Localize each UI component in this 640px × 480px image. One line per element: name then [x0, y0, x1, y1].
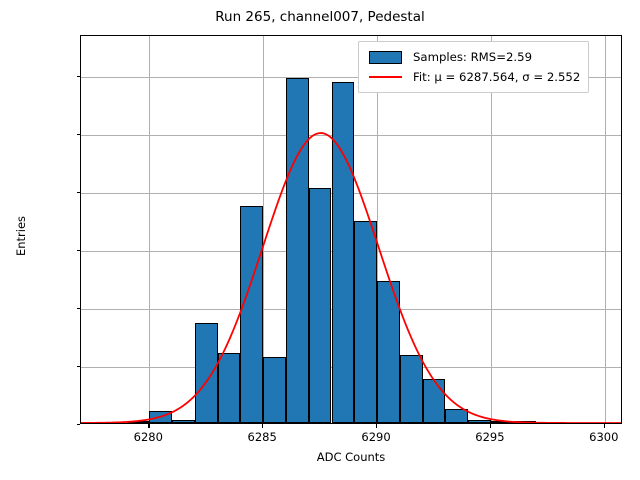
plot-area — [80, 35, 622, 424]
legend-line-swatch-icon — [366, 70, 404, 85]
legend-item-fit: Fit: μ = 6287.564, σ = 2.552 — [366, 67, 580, 87]
legend-item-samples: Samples: RMS=2.59 — [366, 47, 580, 67]
x-tick-mark-6290 — [376, 424, 377, 428]
x-tick-mark-6295 — [490, 424, 491, 428]
x-axis-label: ADC Counts — [80, 450, 622, 464]
x-tick-mark-6285 — [262, 424, 263, 428]
x-tick-label-6295: 6295 — [475, 430, 504, 444]
figure-canvas: Run 265, channel007, Pedestal Entries AD… — [0, 0, 640, 480]
legend-label-fit: Fit: μ = 6287.564, σ = 2.552 — [413, 70, 580, 84]
x-tick-label-6285: 6285 — [248, 430, 277, 444]
x-tick-mark-6300 — [604, 424, 605, 428]
x-tick-mark-6280 — [148, 424, 149, 428]
chart-title: Run 265, channel007, Pedestal — [0, 9, 640, 25]
x-tick-label-6290: 6290 — [361, 430, 390, 444]
gaussian-fit-curve — [81, 36, 621, 423]
legend-label-samples: Samples: RMS=2.59 — [413, 50, 532, 64]
y-axis-label: Entries — [14, 136, 28, 336]
legend: Samples: RMS=2.59 Fit: μ = 6287.564, σ =… — [358, 41, 589, 93]
legend-bar-swatch-icon — [366, 50, 404, 65]
x-tick-label-6280: 6280 — [134, 430, 163, 444]
y-tick-mark-0 — [77, 424, 81, 425]
x-tick-label-6300: 6300 — [589, 430, 618, 444]
